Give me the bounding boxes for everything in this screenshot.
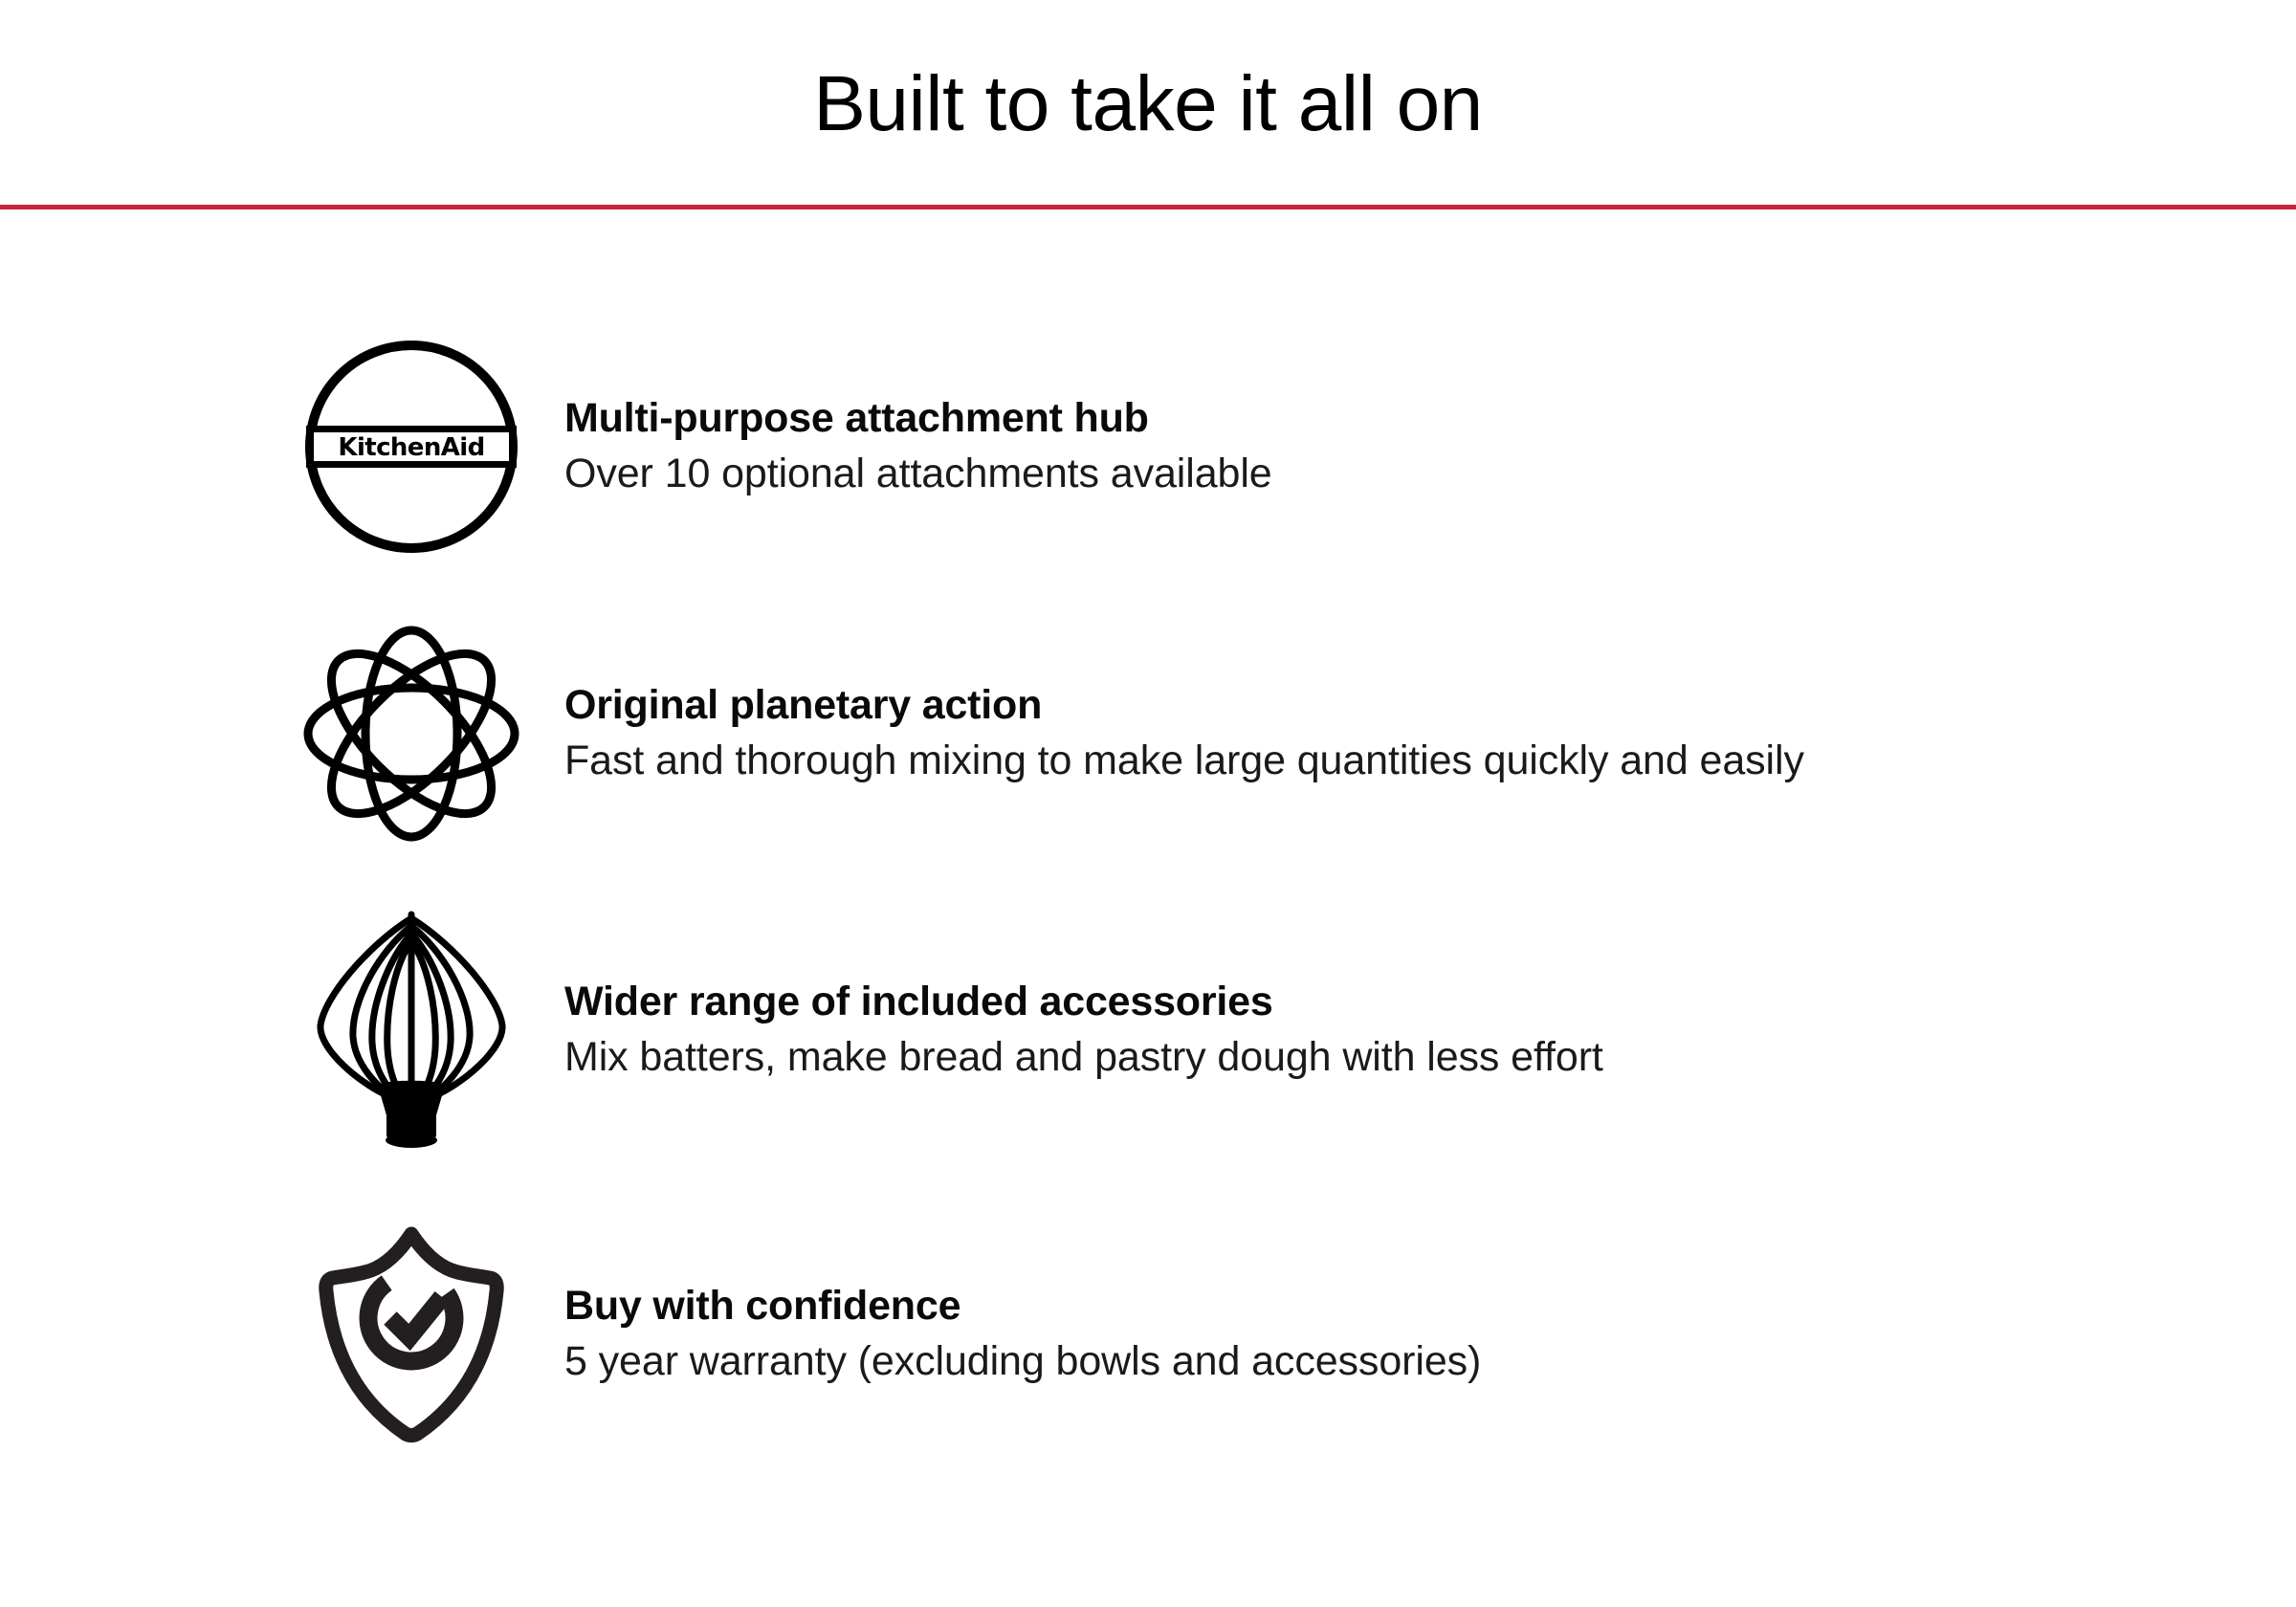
- list-item: Wider range of included accessories Mix …: [287, 906, 2258, 1155]
- feature-list: KitchenAid Multi-purpose attachment hub …: [0, 208, 2296, 1607]
- kitchenaid-wordmark: KitchenAid: [338, 433, 484, 462]
- list-item: Original planetary action Fast and thoro…: [287, 619, 2258, 848]
- feature-description: Over 10 optional attachments available: [564, 449, 2258, 498]
- feature-text-cell: Buy with confidence 5 year warranty (exc…: [536, 1282, 2258, 1386]
- header: Built to take it all on: [0, 0, 2296, 208]
- feature-icon-cell: KitchenAid: [287, 332, 536, 561]
- feature-description: Fast and thorough mixing to make large q…: [564, 736, 2258, 785]
- feature-heading: Multi-purpose attachment hub: [564, 394, 2258, 443]
- planetary-action-atom-icon: [302, 625, 520, 843]
- feature-highlights-panel: Built to take it all on KitchenAid Multi…: [0, 0, 2296, 1607]
- feature-icon-cell: [287, 1220, 536, 1449]
- shield-check-icon: [318, 1222, 505, 1447]
- feature-text-cell: Wider range of included accessories Mix …: [536, 978, 2258, 1082]
- feature-heading: Buy with confidence: [564, 1282, 2258, 1331]
- wire-whisk-icon: [311, 909, 512, 1153]
- feature-heading: Original planetary action: [564, 681, 2258, 730]
- feature-description: 5 year warranty (excluding bowls and acc…: [564, 1336, 2258, 1386]
- list-item: KitchenAid Multi-purpose attachment hub …: [287, 332, 2258, 561]
- feature-description: Mix batters, make bread and pastry dough…: [564, 1032, 2258, 1082]
- feature-text-cell: Multi-purpose attachment hub Over 10 opt…: [536, 394, 2258, 498]
- page-title: Built to take it all on: [0, 65, 2296, 143]
- feature-icon-cell: [287, 915, 536, 1145]
- kitchenaid-badge-icon: KitchenAid: [302, 338, 520, 556]
- feature-text-cell: Original planetary action Fast and thoro…: [536, 681, 2258, 785]
- feature-icon-cell: [287, 619, 536, 848]
- feature-heading: Wider range of included accessories: [564, 978, 2258, 1026]
- list-item: Buy with confidence 5 year warranty (exc…: [287, 1220, 2258, 1449]
